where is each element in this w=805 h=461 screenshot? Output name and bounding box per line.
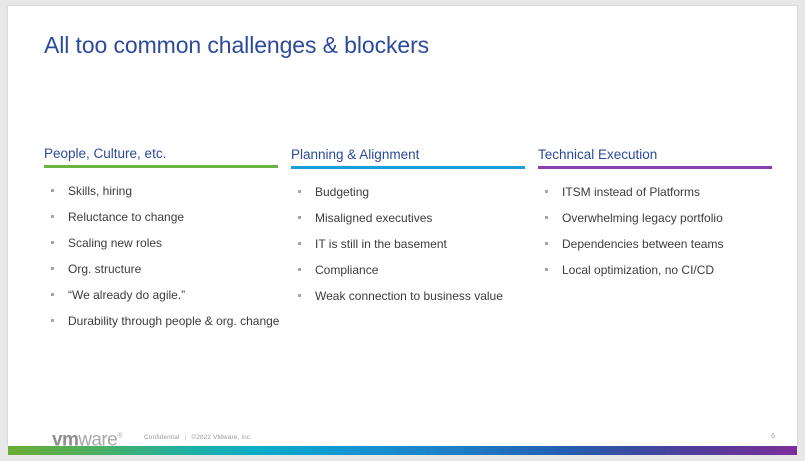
list-item-label: Org. structure: [68, 262, 141, 276]
column-accent-rule: [291, 166, 525, 169]
list-item: Local optimization, no CI/CD: [538, 262, 783, 278]
bullet-square-icon: [51, 241, 54, 244]
list-item: Skills, hiring: [44, 183, 284, 199]
list-item-label: “We already do agile.”: [68, 288, 185, 302]
list-item-label: ITSM instead of Platforms: [562, 185, 700, 199]
bottom-accent-gradient-bar: [8, 446, 797, 455]
list-item: Weak connection to business value: [291, 288, 531, 304]
list-item-label: Local optimization, no CI/CD: [562, 263, 714, 277]
list-item-label: Skills, hiring: [68, 184, 132, 198]
bullet-square-icon: [51, 293, 54, 296]
column-heading: Technical Execution: [538, 146, 783, 162]
bullet-square-icon: [298, 190, 301, 193]
list-item-label: Compliance: [315, 263, 378, 277]
list-item-label: Overwhelming legacy portfolio: [562, 211, 723, 225]
list-item-label: IT is still in the basement: [315, 237, 447, 251]
list-item-label: Reluctance to change: [68, 210, 184, 224]
registered-trademark-icon: ®: [117, 431, 122, 440]
list-item-label: Durability through people & org. change: [68, 314, 279, 328]
bullet-square-icon: [545, 216, 548, 219]
list-item-label: Weak connection to business value: [315, 289, 503, 303]
list-item: IT is still in the basement: [291, 236, 531, 252]
list-item: Scaling new roles: [44, 235, 284, 251]
bullet-list: Budgeting Misaligned executives IT is st…: [291, 184, 531, 304]
list-item-label: Misaligned executives: [315, 211, 432, 225]
bullet-list: ITSM instead of Platforms Overwhelming l…: [538, 184, 783, 278]
column-heading: People, Culture, etc.: [44, 146, 284, 161]
footer-meta: Confidential|©2022 VMware, Inc.: [144, 434, 252, 441]
bullet-square-icon: [298, 268, 301, 271]
list-item: Dependencies between teams: [538, 236, 783, 252]
list-item: Compliance: [291, 262, 531, 278]
column-accent-rule: [538, 166, 772, 169]
list-item: ITSM instead of Platforms: [538, 184, 783, 200]
bullet-square-icon: [298, 294, 301, 297]
confidential-label: Confidential: [144, 434, 180, 441]
bullet-square-icon: [545, 242, 548, 245]
page-number: 6: [771, 433, 775, 440]
copyright-label: ©2022 VMware, Inc.: [191, 434, 252, 441]
column-technical-execution: Technical Execution ITSM instead of Plat…: [538, 146, 783, 288]
bullet-square-icon: [51, 215, 54, 218]
list-item: Reluctance to change: [44, 209, 284, 225]
column-planning-alignment: Planning & Alignment Budgeting Misaligne…: [291, 146, 531, 314]
slide-canvas: All too common challenges & blockers Peo…: [8, 6, 797, 447]
bullet-square-icon: [51, 319, 54, 322]
list-item: Misaligned executives: [291, 210, 531, 226]
bullet-square-icon: [298, 216, 301, 219]
footer-separator: |: [185, 434, 187, 441]
column-people-culture: People, Culture, etc. Skills, hiring Rel…: [44, 146, 284, 339]
list-item: “We already do agile.”: [44, 287, 284, 303]
column-heading: Planning & Alignment: [291, 146, 531, 162]
column-accent-rule: [44, 165, 278, 168]
bullet-square-icon: [51, 189, 54, 192]
list-item: Durability through people & org. change: [44, 313, 284, 329]
list-item: Overwhelming legacy portfolio: [538, 210, 783, 226]
bullet-square-icon: [51, 267, 54, 270]
bullet-square-icon: [298, 242, 301, 245]
list-item-label: Scaling new roles: [68, 236, 162, 250]
list-item: Budgeting: [291, 184, 531, 200]
list-item: Org. structure: [44, 261, 284, 277]
bullet-square-icon: [545, 190, 548, 193]
bullet-square-icon: [545, 268, 548, 271]
bullet-list: Skills, hiring Reluctance to change Scal…: [44, 183, 284, 329]
list-item-label: Dependencies between teams: [562, 237, 723, 251]
list-item-label: Budgeting: [315, 185, 369, 199]
page-title: All too common challenges & blockers: [44, 32, 429, 59]
